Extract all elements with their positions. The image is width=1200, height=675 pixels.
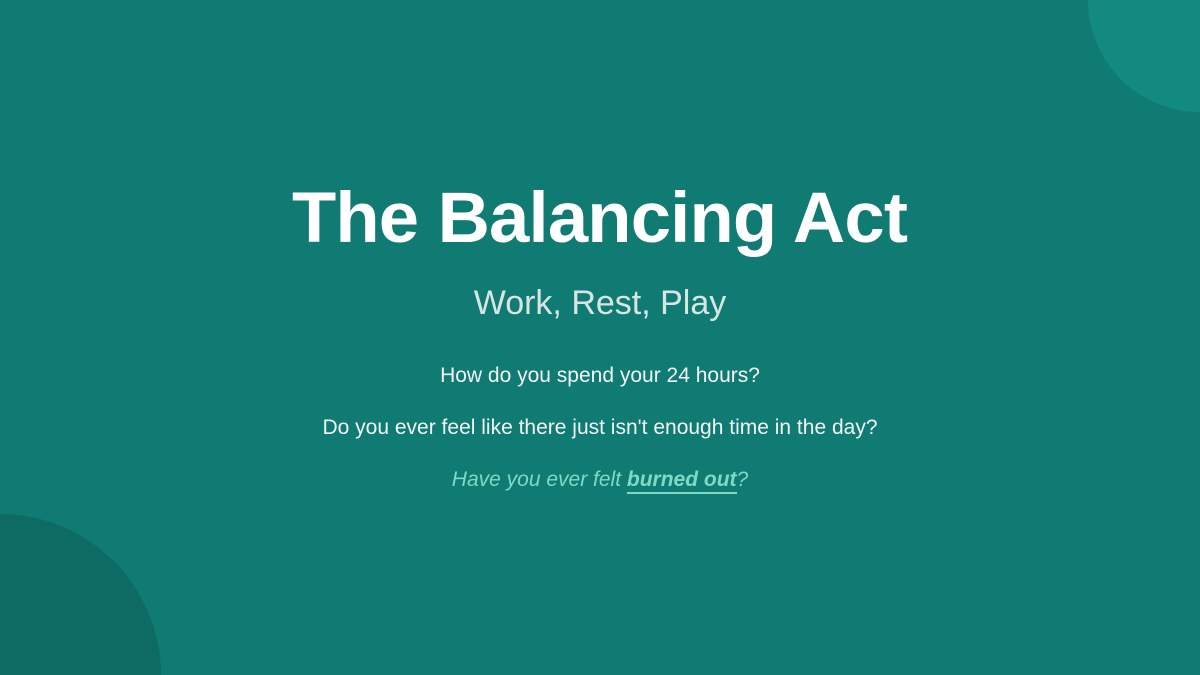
slide-closing-question: Have you ever felt burned out? [452,438,748,490]
burned-out-emphasis: burned out [627,468,737,494]
slide-body-line-2: Do you ever feel like there just isn't e… [323,386,878,438]
presentation-slide: The Balancing Act Work, Rest, Play How d… [0,0,1200,675]
closing-lead-text: Have you ever felt [452,468,627,491]
slide-content: The Balancing Act Work, Rest, Play How d… [0,0,1200,675]
closing-trail-text: ? [737,468,749,491]
slide-subtitle: Work, Rest, Play [474,254,727,320]
slide-body-line-1: How do you spend your 24 hours? [440,320,760,386]
slide-title: The Balancing Act [292,183,907,254]
